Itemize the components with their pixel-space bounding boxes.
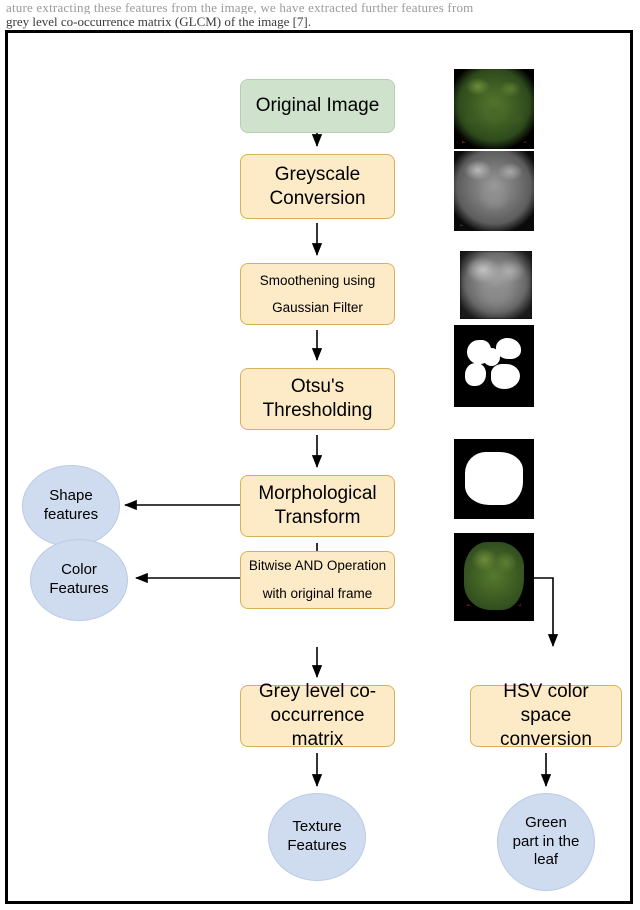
- caption-line-1: ature extracting these features from the…: [6, 0, 634, 14]
- node-otsu-thresholding[interactable]: Otsu's Thresholding: [240, 368, 395, 430]
- node-greyscale-conversion[interactable]: Greyscale Conversion: [240, 154, 395, 219]
- otsu-binary-mask-thumbnail: [454, 325, 534, 407]
- greyscale-leaf-thumbnail: [454, 151, 534, 231]
- node-shape-features[interactable]: Shape features: [22, 465, 120, 547]
- flowchart-canvas: Original Image Greyscale Conversion Smoo…: [8, 33, 630, 901]
- node-greyscale-conversion-label: Greyscale Conversion: [269, 163, 365, 211]
- figure-frame: Original Image Greyscale Conversion Smoo…: [5, 30, 633, 904]
- node-color-features[interactable]: Color Features: [30, 539, 128, 621]
- node-bitwise-and-label: Bitwise AND Operation with original fram…: [249, 552, 386, 609]
- morphological-mask-thumbnail: [454, 439, 534, 519]
- node-green-part-label: Green part in the leaf: [513, 814, 580, 870]
- blurred-leaf-thumbnail: [460, 251, 532, 319]
- segmented-leaf-thumbnail: [454, 533, 534, 621]
- node-original-image-label: Original Image: [256, 94, 380, 118]
- node-texture-features[interactable]: Texture Features: [268, 793, 366, 881]
- node-texture-features-label: Texture Features: [287, 818, 346, 856]
- node-morphological-transform-label: Morphological Transform: [258, 482, 376, 530]
- node-shape-features-label: Shape features: [44, 487, 98, 525]
- node-green-part[interactable]: Green part in the leaf: [497, 793, 595, 891]
- original-leaf-thumbnail: [454, 69, 534, 149]
- node-smoothening[interactable]: Smoothening using Gaussian Filter: [240, 263, 395, 325]
- node-hsv-conversion-label: HSV color space conversion: [477, 680, 615, 751]
- node-glcm-label: Grey level co- occurrence matrix: [247, 680, 388, 751]
- node-glcm[interactable]: Grey level co- occurrence matrix: [240, 685, 395, 747]
- page-caption: ature extracting these features from the…: [6, 0, 634, 29]
- node-color-features-label: Color Features: [49, 561, 108, 599]
- node-morphological-transform[interactable]: Morphological Transform: [240, 475, 395, 537]
- node-hsv-conversion[interactable]: HSV color space conversion: [470, 685, 622, 747]
- node-original-image[interactable]: Original Image: [240, 79, 395, 133]
- node-smoothening-label: Smoothening using Gaussian Filter: [260, 267, 376, 321]
- caption-line-2: grey level co-occurrence matrix (GLCM) o…: [6, 14, 634, 29]
- node-otsu-thresholding-label: Otsu's Thresholding: [263, 375, 373, 423]
- node-bitwise-and[interactable]: Bitwise AND Operation with original fram…: [240, 551, 395, 609]
